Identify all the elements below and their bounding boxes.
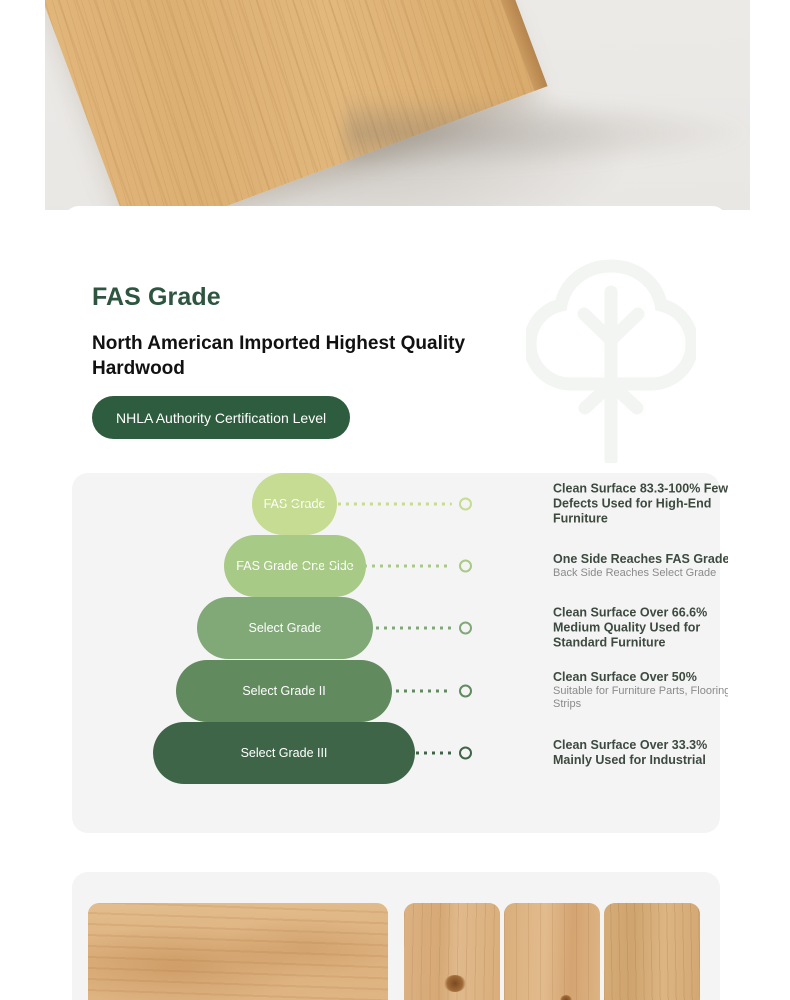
grade-row: FAS Grade Clean Surface 83.3-100% Few De…: [72, 473, 720, 535]
dotted-line: [340, 690, 452, 693]
endpoint-circle-icon: [459, 622, 472, 635]
page-title: FAS Grade: [92, 283, 221, 312]
grade-pill-label: Select Grade: [249, 621, 322, 635]
grade-pill-label: Select Grade II: [242, 684, 325, 698]
product-detail-page: FAS Grade North American Imported Highes…: [0, 0, 790, 1000]
connector-line: [368, 747, 472, 760]
grade-description: One Side Reaches FAS Grade Back Side Rea…: [553, 552, 728, 580]
grade-description-main: Clean Surface Over 66.6% Medium Quality …: [553, 606, 728, 651]
grade-row: Select Grade II Clean Surface Over 50% S…: [72, 660, 720, 722]
grade-description-sub: Back Side Reaches Select Grade: [553, 567, 728, 580]
grade-description-main: One Side Reaches FAS Grade: [553, 552, 728, 567]
wood-sample-narrow-3[interactable]: [604, 903, 700, 1000]
grade-row: FAS Grade One Side One Side Reaches FAS …: [72, 535, 720, 597]
wood-sample-large[interactable]: [88, 903, 388, 1000]
connector-line: [340, 685, 472, 698]
connector-line: [320, 622, 472, 635]
connector-line: [300, 560, 472, 573]
dotted-line: [300, 565, 452, 568]
connector-line: [282, 498, 472, 511]
subtitle: North American Imported Highest Quality …: [92, 331, 562, 382]
grade-row: Select Grade Clean Surface Over 66.6% Me…: [72, 597, 720, 659]
dotted-line: [320, 627, 452, 630]
certification-badge: NHLA Authority Certification Level: [92, 396, 350, 439]
grade-description-main: Clean Surface Over 33.3% Mainly Used for…: [553, 738, 728, 768]
grade-description-main: Clean Surface Over 50%: [553, 670, 728, 685]
grade-row: Select Grade III Clean Surface Over 33.3…: [72, 722, 720, 784]
wood-sample-narrow-2[interactable]: [504, 903, 600, 1000]
endpoint-circle-icon: [459, 685, 472, 698]
grade-description: Clean Surface 83.3-100% Few Defects Used…: [553, 482, 728, 527]
grade-pill-label: Select Grade III: [241, 746, 328, 760]
wood-sample-narrow-1[interactable]: [404, 903, 500, 1000]
dotted-line: [368, 752, 452, 755]
grade-description: Clean Surface Over 50% Suitable for Furn…: [553, 670, 728, 712]
endpoint-circle-icon: [459, 747, 472, 760]
grade-description: Clean Surface Over 33.3% Mainly Used for…: [553, 738, 728, 768]
endpoint-circle-icon: [459, 560, 472, 573]
grade-description-main: Clean Surface 83.3-100% Few Defects Used…: [553, 482, 728, 527]
grade-funnel-panel: FAS Grade Clean Surface 83.3-100% Few De…: [72, 473, 720, 833]
hero-wood-image: [45, 0, 750, 210]
dotted-line: [282, 503, 452, 506]
grade-description: Clean Surface Over 66.6% Medium Quality …: [553, 606, 728, 651]
wood-sample-gallery: [72, 872, 720, 1000]
endpoint-circle-icon: [459, 498, 472, 511]
board-shadow: [345, 96, 745, 170]
grade-info-card: FAS Grade North American Imported Highes…: [63, 206, 728, 846]
grade-description-sub: Suitable for Furniture Parts, Flooring S…: [553, 685, 728, 712]
